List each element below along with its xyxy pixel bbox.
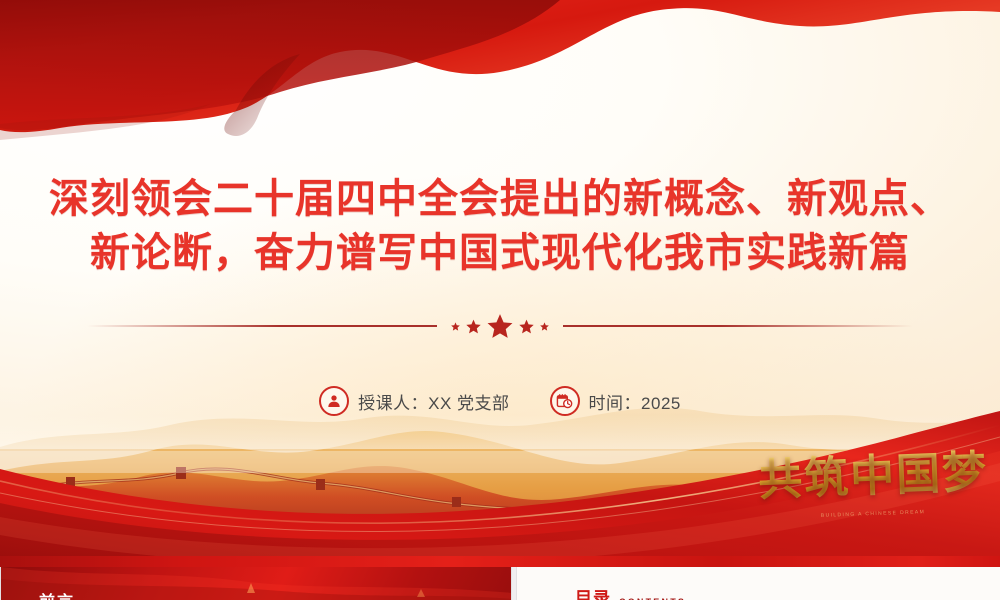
- seal-subtext: BUILDING A CHINESE DREAM: [758, 507, 988, 521]
- person-icon: [319, 386, 349, 416]
- divider-stars: [437, 313, 563, 339]
- star-icon-xs-right: [540, 322, 549, 331]
- slide-filmstrip[interactable]: 前言 目录 CONTENTS: [0, 567, 1000, 600]
- date-meta: 时间：2025: [550, 386, 681, 416]
- star-divider: [0, 310, 1000, 342]
- presenter-meta: 授课人：XX 党支部: [319, 386, 509, 416]
- calendar-clock-icon: [550, 386, 580, 416]
- strip-top-bar: [0, 556, 1000, 567]
- divider-rule-left: [87, 325, 437, 327]
- title-line-2: 新论断，奋力谱写中国式现代化我市实践新篇: [24, 226, 976, 280]
- thumbnail-contents-label-cn: 目录: [575, 584, 611, 600]
- date-text: 时间：2025: [589, 389, 681, 414]
- divider-rule-right: [563, 325, 913, 327]
- presenter-text: 授课人：XX 党支部: [358, 389, 509, 414]
- star-icon-lg-center: [487, 313, 513, 339]
- star-icon-xs-left: [451, 322, 460, 331]
- presentation-stage: 深刻领会二十届四中全会提出的新概念、新观点、 新论断，奋力谱写中国式现代化我市实…: [0, 0, 1000, 600]
- thumbnail-contents-labels: 目录 CONTENTS: [575, 584, 686, 600]
- gold-calligraphy-seal: 共筑中国梦 BUILDING A CHINESE DREAM: [758, 441, 988, 521]
- star-icon-sm-right: [519, 319, 534, 334]
- slide-canvas[interactable]: 深刻领会二十届四中全会提出的新概念、新观点、 新论断，奋力谱写中国式现代化我市实…: [0, 0, 1000, 567]
- seal-text: 共筑中国梦: [757, 437, 989, 508]
- title-line-1: 深刻领会二十届四中全会提出的新概念、新观点、: [24, 172, 976, 226]
- thumbnail-preface-label: 前言: [39, 588, 75, 600]
- slide-meta-row: 授课人：XX 党支部 时间：2025: [0, 386, 1000, 416]
- thumbnail-contents[interactable]: 目录 CONTENTS: [516, 567, 1000, 600]
- slide-title: 深刻领会二十届四中全会提出的新概念、新观点、 新论断，奋力谱写中国式现代化我市实…: [0, 172, 1000, 280]
- red-flag-ribbon-icon: [0, 0, 1000, 190]
- star-icon-sm-left: [466, 319, 481, 334]
- thumbnail-preface[interactable]: 前言: [0, 567, 512, 600]
